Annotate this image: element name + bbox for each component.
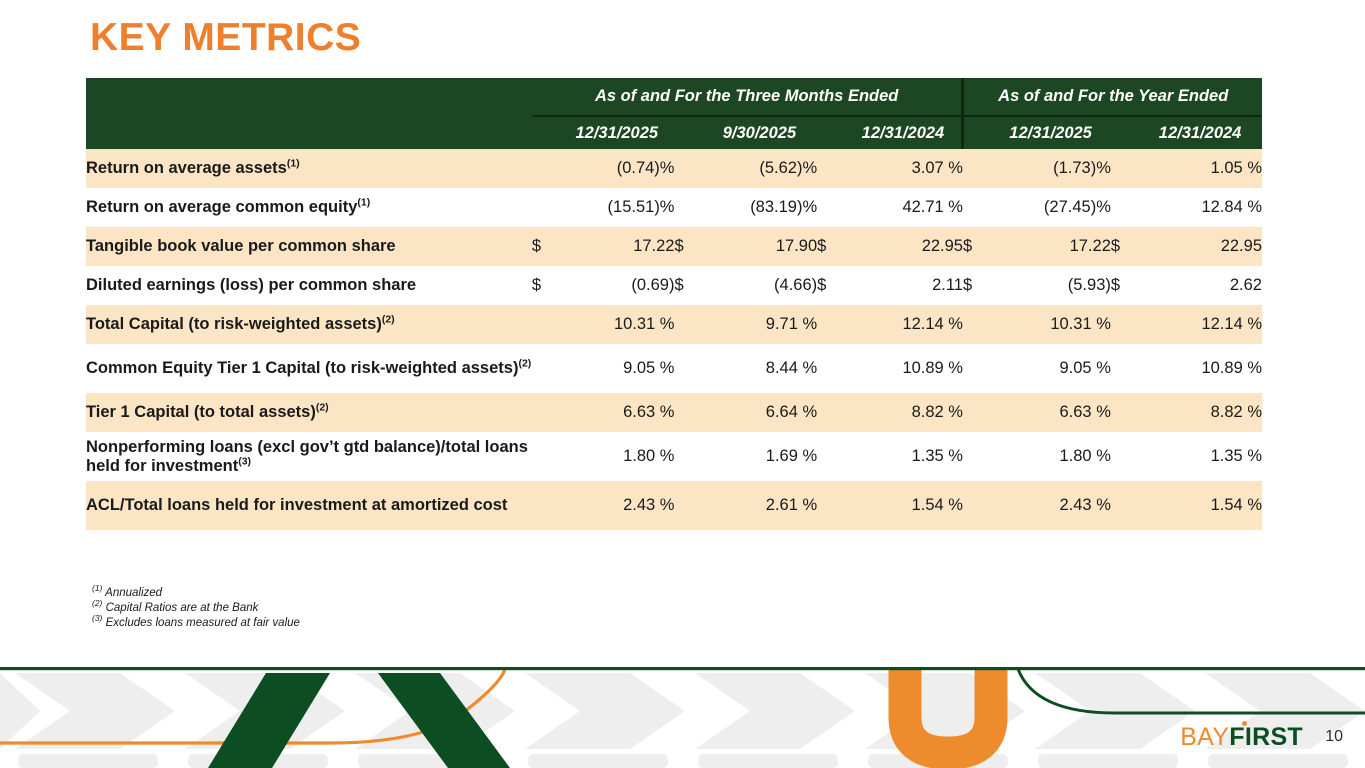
metric-label-text: Nonperforming loans (excl gov’t gtd bala… [86, 438, 528, 475]
table-group-header-row: As of and For the Three Months EndedAs o… [86, 78, 1262, 116]
metric-label: Return on average common equity(1) [86, 188, 532, 227]
metric-footnote-marker: (2) [518, 358, 531, 370]
table-row: Tier 1 Capital (to total assets)(2)6.63 … [86, 393, 1262, 432]
metric-value-cell: 6.63 % [559, 393, 674, 432]
metric-value-cell: 42.71 % [844, 188, 963, 227]
metric-value-cell: (15.51)% [559, 188, 674, 227]
metric-label-text: Return on average common equity [86, 198, 357, 216]
metric-value-cell: 2.61 % [702, 481, 817, 530]
metric-value-cell: 12.84 % [1138, 188, 1262, 227]
header-symbol-spacer-3 [817, 116, 844, 149]
metric-value-cell: 12.14 % [844, 305, 963, 344]
metric-label: Common Equity Tier 1 Capital (to risk-we… [86, 344, 532, 393]
metric-value-cell: 17.90 [702, 227, 817, 266]
metric-value-cell: (5.62)% [702, 149, 817, 188]
currency-symbol-cell [532, 149, 559, 188]
metric-footnote-marker: (1) [357, 197, 370, 209]
metric-label-text: Return on average assets [86, 159, 287, 177]
metric-value-cell: 1.69 % [702, 432, 817, 481]
currency-symbol-cell: $ [532, 266, 559, 305]
metric-value-cell: 17.22 [990, 227, 1111, 266]
currency-symbol-cell [817, 188, 844, 227]
metric-label-text: Tier 1 Capital (to total assets) [86, 403, 316, 421]
metric-footnote-marker: (2) [316, 402, 329, 414]
metric-value-cell: (5.93) [990, 266, 1111, 305]
currency-symbol-cell [963, 432, 990, 481]
bayfirst-logo: BAYFIRST [1180, 725, 1303, 750]
currency-symbol-cell: $ [674, 266, 701, 305]
currency-symbol-cell [1111, 149, 1138, 188]
metric-value-cell: (0.74)% [559, 149, 674, 188]
currency-symbol-cell [1111, 481, 1138, 530]
metric-value-cell: 6.64 % [702, 393, 817, 432]
currency-symbol-cell: $ [1111, 227, 1138, 266]
metric-value-cell: 8.82 % [844, 393, 963, 432]
currency-symbol-cell [963, 188, 990, 227]
metric-value-cell: 9.05 % [559, 344, 674, 393]
table-row: Return on average assets(1)(0.74)%(5.62)… [86, 149, 1262, 188]
currency-symbol-cell: $ [1111, 266, 1138, 305]
metric-value-cell: 1.35 % [844, 432, 963, 481]
metric-label: Tangible book value per common share [86, 227, 532, 266]
logo-first-label: FIRST [1229, 723, 1303, 751]
metric-label-text: Tangible book value per common share [86, 237, 396, 255]
table-column-header-5: 12/31/2024 [1138, 116, 1262, 149]
currency-symbol-cell [1111, 188, 1138, 227]
metric-label: Diluted earnings (loss) per common share [86, 266, 532, 305]
currency-symbol-cell [532, 305, 559, 344]
table-row: Nonperforming loans (excl gov’t gtd bala… [86, 432, 1262, 481]
metric-value-cell: 2.43 % [559, 481, 674, 530]
metric-value-cell: 1.05 % [1138, 149, 1262, 188]
metric-value-cell: (0.69) [559, 266, 674, 305]
table-group-header-2: As of and For the Year Ended [963, 78, 1262, 116]
currency-symbol-cell [674, 393, 701, 432]
currency-symbol-cell [532, 432, 559, 481]
footnote-line: (2) Capital Ratios are at the Bank [92, 601, 300, 616]
metric-value-cell: 9.71 % [702, 305, 817, 344]
metric-label: Total Capital (to risk-weighted assets)(… [86, 305, 532, 344]
currency-symbol-cell [1111, 393, 1138, 432]
key-metrics-table: As of and For the Three Months EndedAs o… [86, 78, 1262, 530]
currency-symbol-cell: $ [963, 266, 990, 305]
metric-value-cell: 17.22 [559, 227, 674, 266]
metric-value-cell: 10.89 % [1138, 344, 1262, 393]
table-row: Common Equity Tier 1 Capital (to risk-we… [86, 344, 1262, 393]
currency-symbol-cell [1111, 305, 1138, 344]
currency-symbol-cell [674, 305, 701, 344]
currency-symbol-cell [817, 432, 844, 481]
footnote-marker: (2) [92, 598, 102, 608]
footnotes-block: (1) Annualized(2) Capital Ratios are at … [92, 586, 300, 632]
metric-value-cell: 2.43 % [990, 481, 1111, 530]
currency-symbol-cell [963, 149, 990, 188]
header-symbol-spacer-1 [532, 116, 559, 149]
metric-value-cell: (4.66) [702, 266, 817, 305]
header-symbol-spacer-5 [1111, 116, 1138, 149]
table-column-header-3: 12/31/2024 [844, 116, 963, 149]
currency-symbol-cell [1111, 432, 1138, 481]
metric-label-text: Diluted earnings (loss) per common share [86, 276, 416, 294]
footnote-text: Excludes loans measured at fair value [106, 617, 300, 629]
currency-symbol-cell [817, 305, 844, 344]
metric-value-cell: 2.62 [1138, 266, 1262, 305]
metric-value-cell: 10.89 % [844, 344, 963, 393]
metric-label: ACL/Total loans held for investment at a… [86, 481, 532, 530]
metric-value-cell: 1.80 % [559, 432, 674, 481]
metric-value-cell: 10.31 % [990, 305, 1111, 344]
currency-symbol-cell [674, 149, 701, 188]
currency-symbol-cell [817, 393, 844, 432]
table-row: Total Capital (to risk-weighted assets)(… [86, 305, 1262, 344]
currency-symbol-cell [532, 188, 559, 227]
currency-symbol-cell [532, 481, 559, 530]
currency-symbol-cell [817, 481, 844, 530]
metric-value-cell: 2.11 [844, 266, 963, 305]
metric-value-cell: 10.31 % [559, 305, 674, 344]
metric-label-text: ACL/Total loans held for investment at a… [86, 496, 507, 514]
metric-value-cell: 6.63 % [990, 393, 1111, 432]
currency-symbol-cell [674, 432, 701, 481]
metric-footnote-marker: (2) [382, 314, 395, 326]
header-corner-cell [86, 78, 532, 116]
table-row: Return on average common equity(1)(15.51… [86, 188, 1262, 227]
table-row: Diluted earnings (loss) per common share… [86, 266, 1262, 305]
footnote-text: Capital Ratios are at the Bank [106, 602, 259, 614]
currency-symbol-cell: $ [963, 227, 990, 266]
metric-value-cell: 9.05 % [990, 344, 1111, 393]
table-column-header-2: 9/30/2025 [702, 116, 817, 149]
footnote-line: (3) Excludes loans measured at fair valu… [92, 616, 300, 631]
page-title: KEY METRICS [90, 18, 361, 57]
currency-symbol-cell [963, 481, 990, 530]
header-symbol-spacer-4 [963, 116, 990, 149]
metric-value-cell: (1.73)% [990, 149, 1111, 188]
table-row: Tangible book value per common share$17.… [86, 227, 1262, 266]
footnote-marker: (3) [92, 614, 102, 624]
page-number: 10 [1325, 728, 1343, 746]
metric-footnote-marker: (3) [238, 455, 251, 467]
metric-value-cell: (83.19)% [702, 188, 817, 227]
currency-symbol-cell [532, 344, 559, 393]
metric-label-text: Total Capital (to risk-weighted assets) [86, 315, 382, 333]
metric-value-cell: 1.80 % [990, 432, 1111, 481]
metric-value-cell: 22.95 [844, 227, 963, 266]
table-column-header-4: 12/31/2025 [990, 116, 1111, 149]
currency-symbol-cell: $ [817, 227, 844, 266]
metric-value-cell: 8.44 % [702, 344, 817, 393]
footer-decoration: BAYFIRST 10 [0, 655, 1365, 768]
currency-symbol-cell [963, 344, 990, 393]
currency-symbol-cell [817, 344, 844, 393]
footnote-marker: (1) [92, 583, 102, 593]
currency-symbol-cell: $ [817, 266, 844, 305]
metric-label: Nonperforming loans (excl gov’t gtd bala… [86, 432, 532, 481]
table-column-header-1: 12/31/2025 [559, 116, 674, 149]
currency-symbol-cell [674, 188, 701, 227]
metric-label: Return on average assets(1) [86, 149, 532, 188]
metric-label: Tier 1 Capital (to total assets)(2) [86, 393, 532, 432]
metric-value-cell: 1.54 % [1138, 481, 1262, 530]
metric-value-cell: 12.14 % [1138, 305, 1262, 344]
currency-symbol-cell [674, 481, 701, 530]
table-row: ACL/Total loans held for investment at a… [86, 481, 1262, 530]
currency-symbol-cell [963, 305, 990, 344]
metric-value-cell: 1.54 % [844, 481, 963, 530]
currency-symbol-cell: $ [532, 227, 559, 266]
metric-value-cell: 3.07 % [844, 149, 963, 188]
table-column-header-row: 12/31/20259/30/202512/31/202412/31/20251… [86, 116, 1262, 149]
footnote-line: (1) Annualized [92, 586, 300, 601]
metric-label-text: Common Equity Tier 1 Capital (to risk-we… [86, 359, 518, 377]
header-symbol-spacer-2 [674, 116, 701, 149]
header-metric-cell [86, 116, 532, 149]
metric-value-cell: 22.95 [1138, 227, 1262, 266]
currency-symbol-cell [532, 393, 559, 432]
metric-value-cell: (27.45)% [990, 188, 1111, 227]
currency-symbol-cell [674, 344, 701, 393]
metric-value-cell: 1.35 % [1138, 432, 1262, 481]
metric-footnote-marker: (1) [287, 158, 300, 170]
metric-value-cell: 8.82 % [1138, 393, 1262, 432]
currency-symbol-cell: $ [674, 227, 701, 266]
logo-bay-text: BAY [1180, 723, 1229, 751]
footnote-text: Annualized [105, 587, 162, 599]
currency-symbol-cell [817, 149, 844, 188]
table-group-header-1: As of and For the Three Months Ended [532, 78, 963, 116]
currency-symbol-cell [963, 393, 990, 432]
logo-first-text: FIRST [1229, 723, 1303, 751]
currency-symbol-cell [1111, 344, 1138, 393]
